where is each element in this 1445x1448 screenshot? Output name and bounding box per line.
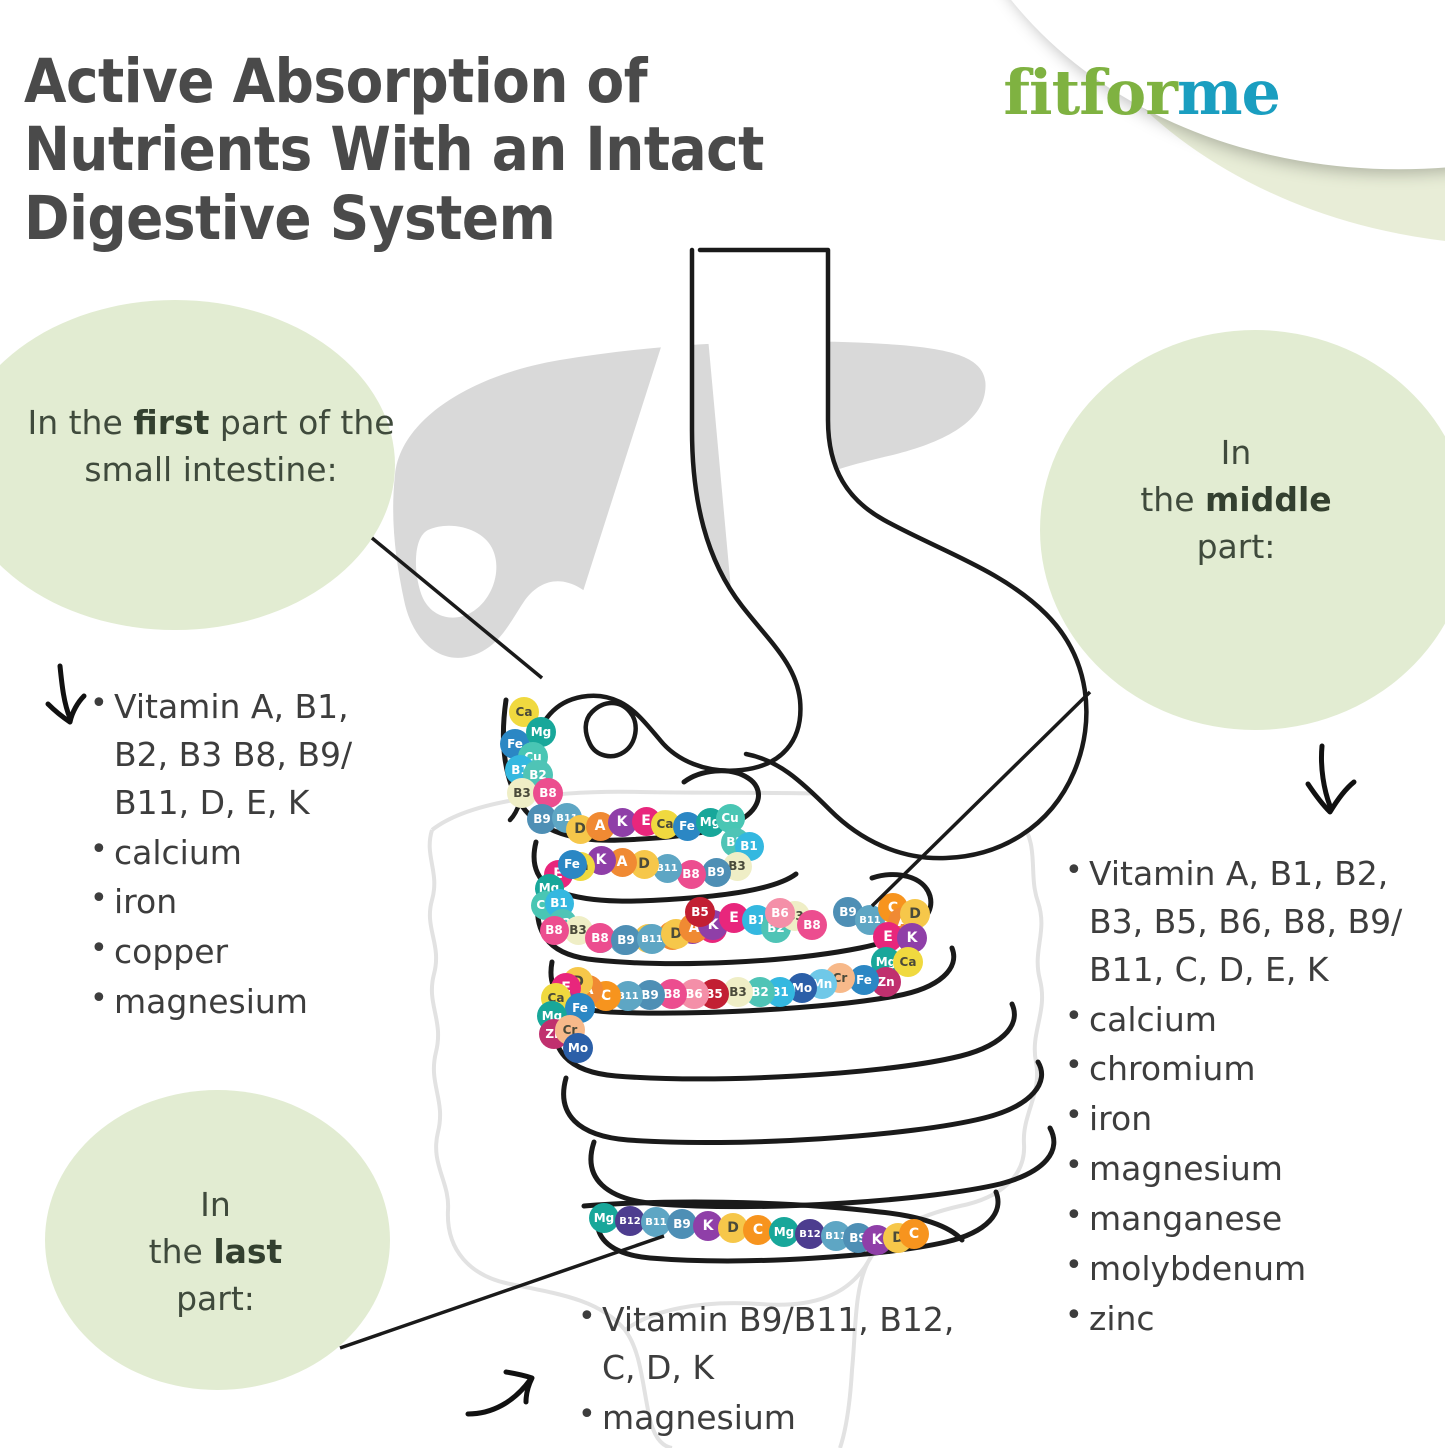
- nutrient-middle-item: molybdenum: [1063, 1245, 1435, 1293]
- nutrient-list-middle: Vitamin A, B1, B2, B3, B5, B6, B8, B9/ B…: [1063, 850, 1435, 1344]
- leader-line-middle: [872, 692, 1090, 906]
- stomach-outline: [510, 250, 1086, 858]
- jejunum-bubble: A: [679, 913, 709, 943]
- duodenum-bubble: K: [608, 808, 637, 837]
- duodenum-bubble: B8: [533, 778, 563, 808]
- logo-text-fitfor: fitfor: [1003, 56, 1177, 129]
- duodenum-bubble: B3: [723, 852, 752, 881]
- duodenum-bubble: K: [678, 915, 707, 944]
- jejunum-bubble: E: [551, 973, 581, 1003]
- duodenum-bubble: B1: [735, 832, 764, 861]
- jejunum-bubble: D: [563, 967, 593, 997]
- ileum-bubble: B11: [821, 1221, 851, 1251]
- ileum-bubble: C: [899, 1219, 929, 1249]
- jejunum-bubble: B6: [765, 898, 795, 928]
- jejunum-bubble: B6: [679, 979, 709, 1009]
- large-intestine-top: [432, 792, 1020, 830]
- nutrient-first-item: copper: [88, 928, 388, 976]
- arrow-down-first-icon: [36, 660, 116, 740]
- duodenum-bubble: A: [608, 848, 637, 877]
- liver-shape: [393, 341, 985, 658]
- small-intestine-loop6: [564, 1062, 1042, 1143]
- duodenum-bubble: A: [586, 812, 615, 841]
- nutrient-first-item: iron: [88, 878, 388, 926]
- jejunum-bubble: B8: [657, 979, 687, 1009]
- jejunum-bubble: B1: [765, 977, 795, 1007]
- duodenum-bubble: E: [632, 807, 661, 836]
- callout-middle-line2pre: the: [1140, 480, 1205, 519]
- jejunum-bubble: B11: [855, 905, 885, 935]
- callout-label-last: In the last part:: [58, 1182, 373, 1323]
- ileum-bubble: Mg: [769, 1217, 799, 1247]
- jejunum-bubble: Fe: [849, 965, 879, 995]
- duodenum-bubble: B2: [721, 828, 750, 857]
- nutrient-middle-item: chromium: [1063, 1045, 1435, 1093]
- jejunum-bubble: Zn: [539, 1019, 569, 1049]
- nutrient-middle-item: zinc: [1063, 1295, 1435, 1343]
- page-title-line2: Nutrients With an Intact: [24, 116, 764, 184]
- duodenum-bubble: B1: [545, 889, 574, 918]
- duodenum-bubble: B9: [702, 858, 731, 887]
- duodenum-bubble: Mg: [696, 808, 725, 837]
- callout-label-first: In the first part of the small intestine…: [16, 400, 406, 494]
- callout-first-strong: first: [133, 403, 209, 442]
- jejunum-bubble: Mg: [871, 947, 901, 977]
- nutrient-middle-item: magnesium: [1063, 1145, 1435, 1193]
- duodenum-bubble: Ca: [509, 697, 539, 727]
- ileum-bubble: K: [862, 1225, 892, 1255]
- nutrient-middle-item: calcium: [1063, 996, 1435, 1044]
- jejunum-bubble: B9: [611, 925, 641, 955]
- nutrient-list-first: Vitamin A, B1, B2, B3 B8, B9/ B11, D, E,…: [88, 683, 388, 1028]
- duodenum-bubble: B11: [653, 854, 682, 883]
- duodenum-bubble: E: [698, 914, 727, 943]
- duodenum-bubble: A: [658, 921, 687, 950]
- arrow-down-middle-icon: [1292, 742, 1382, 832]
- callout-label-middle: In the middle part:: [1051, 430, 1421, 571]
- nutrient-middle-item: manganese: [1063, 1195, 1435, 1243]
- jejunum-bubble: A: [888, 907, 918, 937]
- ileum-bubble: B9: [667, 1209, 697, 1239]
- nutrient-middle-item: Vitamin A, B1, B2, B3, B5, B6, B8, B9/ B…: [1063, 850, 1435, 994]
- nutrient-first-item: Vitamin A, B1, B2, B3 B8, B9/ B11, D, E,…: [88, 683, 388, 827]
- jejunum-bubble: Zn: [871, 967, 901, 997]
- ileum-bubble: B12: [795, 1219, 825, 1249]
- jejunum-bubble: Mo: [787, 973, 817, 1003]
- ileum-bubble: B9: [843, 1223, 873, 1253]
- duodenum-bubble: K: [587, 846, 616, 875]
- jejunum-bubble: B5: [685, 897, 715, 927]
- duodenum-bubble: Mg: [526, 717, 556, 747]
- arrow-up-right-last-icon: [462, 1358, 562, 1428]
- small-intestine-loop2: [534, 842, 796, 901]
- nutrient-middle-item: iron: [1063, 1095, 1435, 1143]
- small-intestine-loop5: [554, 1004, 1014, 1079]
- jejunum-bubble: B9: [833, 897, 863, 927]
- jejunum-bubble: B2: [761, 913, 791, 943]
- jejunum-bubble: Mn: [807, 969, 837, 999]
- jejunum-bubble: K: [553, 993, 583, 1023]
- jejunum-bubble: Mg: [537, 1001, 567, 1031]
- callout-middle-post: part:: [1197, 527, 1276, 566]
- ileum-bubble: B11: [641, 1207, 671, 1237]
- jejunum-bubble: K: [897, 923, 927, 953]
- jejunum-bubble: Fe: [565, 993, 595, 1023]
- duodenum-bubble: B8: [677, 860, 706, 889]
- duodenum-bubble: D: [566, 815, 595, 844]
- jejunum-bubble: E: [873, 922, 903, 952]
- ileum-track: [584, 1202, 962, 1240]
- duodenum-bubble: D: [634, 924, 663, 953]
- jejunum-bubble: K: [698, 910, 728, 940]
- callout-middle-strong: middle: [1205, 480, 1332, 519]
- page-title: Active Absorption of Nutrients With an I…: [24, 48, 764, 253]
- jejunum-bubble: Ca: [541, 983, 571, 1013]
- jejunum-bubble: D: [900, 899, 930, 929]
- duodenum-bubble: B11: [552, 803, 582, 833]
- duodenum-bubble: B11: [610, 926, 639, 955]
- callout-last-line2pre: the: [149, 1232, 214, 1271]
- nutrient-last-item: Vitamin B9/B11, B12, C, D, K: [576, 1296, 956, 1392]
- duodenum-bubble: Ca: [651, 810, 680, 839]
- duodenum-bubble: B3: [507, 778, 537, 808]
- ileum-bubble: Mg: [589, 1203, 619, 1233]
- duodenum-bubble: Mg: [535, 874, 564, 903]
- nutrient-last-item: magnesium: [576, 1394, 956, 1442]
- small-intestine-loop8: [597, 1192, 998, 1261]
- jejunum-bubble: B3: [723, 977, 753, 1007]
- ileum-bubble: D: [718, 1213, 748, 1243]
- duodenum-bubble: B1: [505, 755, 535, 785]
- ileum-bubble: C: [743, 1215, 773, 1245]
- small-intestine-loop3: [537, 875, 930, 964]
- jejunum-bubble: B11: [637, 924, 667, 954]
- duodenum-bubble: Cu: [531, 891, 560, 920]
- nutrient-first-item: calcium: [88, 829, 388, 877]
- duodenum-bubble: Fe: [500, 729, 530, 759]
- gallbladder-notch: [416, 526, 496, 618]
- jejunum-bubble: B5: [699, 979, 729, 1009]
- duodenum-bubble: B8: [540, 916, 569, 945]
- duodenum-bubble: D: [630, 850, 659, 879]
- jejunum-bubble: B8: [797, 910, 827, 940]
- callout-last-strong: last: [213, 1232, 282, 1271]
- duodenum-bubble: Fe: [558, 850, 587, 879]
- jejunum-bubble: C: [878, 893, 908, 923]
- jejunum-bubble: B9: [635, 980, 665, 1010]
- ileum-bubble: D: [883, 1223, 913, 1253]
- duodenum-bubble: Ca: [566, 852, 595, 881]
- duodenum-bubble: Cu: [518, 742, 548, 772]
- nutrient-list-last: Vitamin B9/B11, B12, C, D, Kmagnesium: [576, 1296, 956, 1444]
- jejunum-bubble: A: [573, 975, 603, 1005]
- duodenum-bubble: B2: [523, 760, 553, 790]
- jejunum-bubble: Ca: [893, 947, 923, 977]
- fitforme-logo: fitforme: [1003, 56, 1280, 129]
- callout-last-post: part:: [176, 1279, 255, 1318]
- small-intestine-loop-outer: [503, 700, 758, 840]
- jejunum-bubble: B2: [745, 977, 775, 1007]
- jejunum-bubble: B3: [780, 901, 810, 931]
- duodenum-bubble: Cu: [716, 804, 745, 833]
- pylorus-outline: [586, 703, 636, 756]
- callout-first-pre: In the: [27, 403, 133, 442]
- jejunum-bubble: E: [719, 903, 749, 933]
- jejunum-bubble: Mo: [563, 1033, 593, 1063]
- jejunum-bubble: C: [591, 981, 621, 1011]
- ileum-bubble: B12: [615, 1206, 645, 1236]
- duodenum-bubble: B9: [527, 804, 557, 834]
- logo-text-me: me: [1177, 56, 1280, 129]
- jejunum-bubble: B8: [585, 923, 615, 953]
- small-intestine-loop4: [551, 948, 954, 1013]
- duodenum-bubble: Fe: [673, 812, 702, 841]
- page-title-line1: Active Absorption of: [24, 48, 764, 116]
- leader-line-first: [372, 538, 542, 678]
- jejunum-bubble: Cr: [555, 1015, 585, 1045]
- nutrient-first-item: magnesium: [88, 978, 388, 1026]
- jejunum-bubble: Cr: [825, 963, 855, 993]
- callout-last-pre: In: [200, 1185, 231, 1224]
- page-title-line3: Digestive System: [24, 185, 764, 253]
- duodenum-bubble: B2: [548, 909, 577, 938]
- jejunum-bubble: B11: [613, 981, 643, 1011]
- small-intestine-loop7: [591, 1128, 1054, 1207]
- ileum-bubble: K: [693, 1211, 723, 1241]
- jejunum-bubble: B1: [742, 905, 772, 935]
- duodenum-bubble: E: [544, 860, 573, 889]
- jejunum-bubble: D: [661, 919, 691, 949]
- duodenum-bubble: B3: [564, 916, 593, 945]
- duodenum-bubble: B9: [586, 924, 615, 953]
- callout-middle-pre: In: [1221, 433, 1252, 472]
